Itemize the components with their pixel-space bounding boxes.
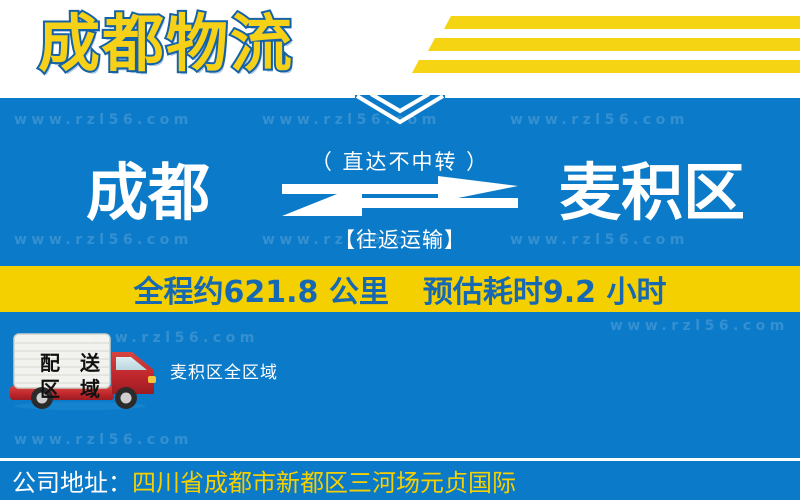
route-row: 成都 （ 直达不中转 ） 【往返运输】 麦积区: [0, 140, 800, 260]
bidirectional-arrow-icon: [282, 176, 518, 222]
truck-char-4: 域: [80, 379, 100, 399]
delivery-truck-icon: 配 送 区 域: [8, 330, 160, 410]
address-label: 公司地址：: [12, 463, 132, 498]
divider-line-left: [0, 94, 355, 98]
coverage-label: 麦积区全区域: [170, 358, 278, 383]
origin-city: 成都: [18, 148, 278, 238]
address-value: 四川省成都市新都区三河场元贞国际: [132, 463, 516, 498]
truck-char-3: 区: [40, 379, 60, 399]
truck-box-text: 配 送 区 域: [30, 350, 110, 402]
route-middle: （ 直达不中转 ） 【往返运输】: [270, 140, 530, 260]
page-title: 成都物流: [38, 6, 294, 82]
delivery-row: 配 送 区 域 麦积区全区域: [0, 316, 800, 446]
info-bar: 全程约621.8 公里 预估耗时9.2 小时: [0, 266, 800, 312]
stripe-3: [412, 60, 800, 73]
distance-value: 全程约621.8 公里: [134, 267, 389, 311]
footer: 公司地址： 四川省成都市新都区三河场元贞国际: [0, 461, 800, 500]
stripe-1: [444, 16, 800, 29]
logistics-banner: 成都物流 成都 （ 直达不中转 ） 【往返: [0, 0, 800, 500]
header-band: 成都物流: [0, 0, 800, 95]
direct-note: （ 直达不中转 ）: [270, 146, 530, 176]
truck-char-2: 送: [80, 353, 100, 373]
chevron-divider: [0, 88, 800, 130]
chevron-down-icon: [355, 88, 445, 128]
truck-char-1: 配: [40, 353, 60, 373]
divider-line-right: [445, 94, 800, 98]
decorative-stripes: [410, 14, 800, 80]
duration-value: 预估耗时9.2 小时: [423, 267, 667, 311]
stripe-2: [428, 38, 800, 51]
roundtrip-note: 【往返运输】: [270, 224, 530, 254]
destination-city: 麦积区: [522, 148, 782, 238]
